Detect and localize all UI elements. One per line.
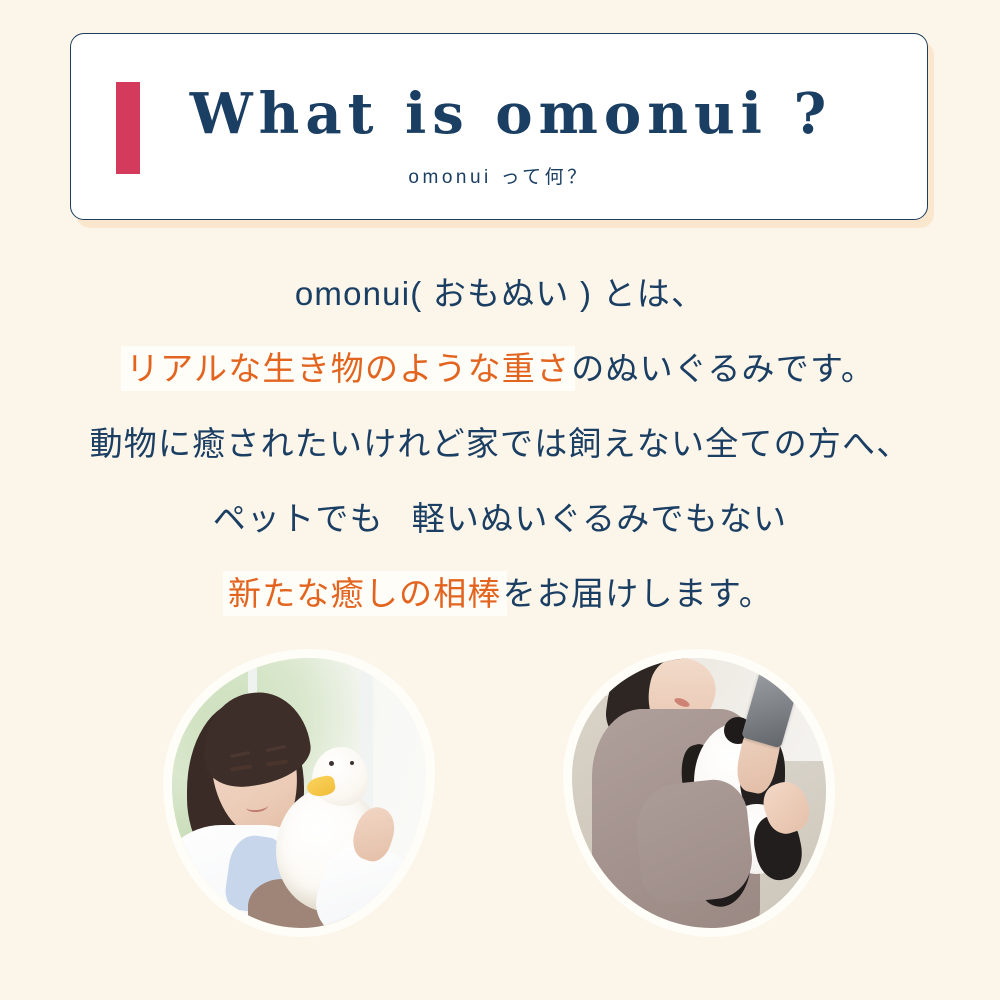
duck-scene <box>172 658 426 928</box>
page-subtitle: omonui って何？ <box>71 162 927 189</box>
copy-line-5: 新たな癒しの相棒をお届けします。 <box>0 556 1000 631</box>
copy-line-3: 動物に癒されたいけれど家では飼えない全ての方へ、 <box>0 406 1000 481</box>
copy-text: のぬいぐるみです。 <box>571 350 875 387</box>
copy-line-2: リアルな生き物のような重さのぬいぐるみです。 <box>0 331 1000 406</box>
panda-scene <box>572 658 826 928</box>
highlighted-text: リアルな生き物のような重さ <box>125 350 571 387</box>
photo-panda-image <box>572 658 826 928</box>
copy-text: 軽いぬいぐるみでもない <box>412 500 788 537</box>
copy-text: をお届けします。 <box>503 575 773 612</box>
photo-duck <box>163 649 435 937</box>
photo-row <box>0 645 1000 955</box>
smartphone <box>741 670 799 749</box>
copy-text: omonui( おもぬい ) とは、 <box>295 275 705 312</box>
photo-duck-image <box>172 658 426 928</box>
header-card: What is omonui ? omonui って何？ <box>70 33 928 220</box>
copy-line-4: ペットでも軽いぬいぐるみでもない <box>0 481 1000 556</box>
copy-line-1: omonui( おもぬい ) とは、 <box>0 256 1000 331</box>
page-title: What is omonui ? <box>71 82 927 146</box>
highlighted-text: 新たな癒しの相棒 <box>227 575 503 612</box>
duck-eye <box>350 761 354 765</box>
sleeve <box>632 777 756 907</box>
copy-text: 動物に癒されたいけれど家では飼えない全ての方へ、 <box>90 425 911 462</box>
copy-text: ペットでも <box>213 500 384 537</box>
body-copy: omonui( おもぬい ) とは、 リアルな生き物のような重さのぬいぐるみです… <box>0 256 1000 631</box>
photo-panda <box>563 649 835 937</box>
